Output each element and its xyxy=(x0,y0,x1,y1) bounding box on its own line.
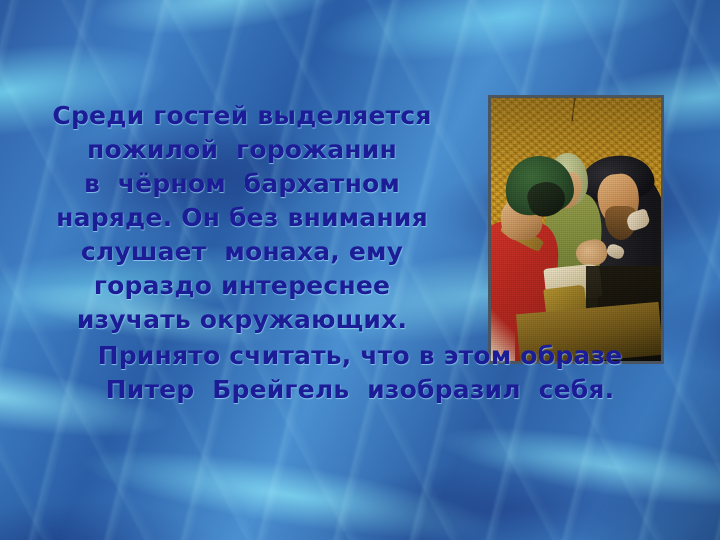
text-line-6: гораздо интереснее xyxy=(0,269,484,303)
slide-canvas: Среди гостей выделяется пожилой горожани… xyxy=(0,0,720,540)
text-line-4: наряде. Он без внимания xyxy=(0,201,484,235)
text-line-9: Питер Брейгель изобразил себя. xyxy=(0,373,720,407)
text-line-2: пожилой горожанин xyxy=(0,133,484,167)
text-line-1: Среди гостей выделяется xyxy=(0,99,484,133)
text-line-3: в чёрном бархатном xyxy=(0,167,484,201)
text-line-5: слушает монаха, ему xyxy=(0,235,484,269)
text-line-8: Принято считать, что в этом образе xyxy=(0,339,720,373)
text-line-7: изучать окружающих. xyxy=(0,303,484,337)
slide-text-block: Среди гостей выделяется пожилой горожани… xyxy=(0,99,720,407)
